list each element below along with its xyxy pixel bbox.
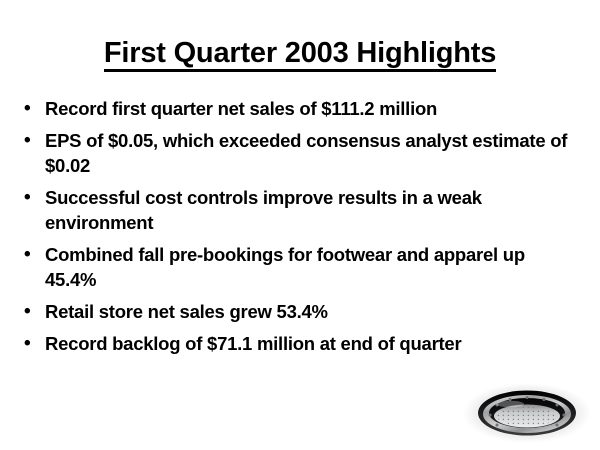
oval-metallic-emblem-icon — [462, 382, 592, 444]
list-item: • Record backlog of $71.1 million at end… — [18, 331, 578, 356]
presentation-slide: First Quarter 2003 Highlights • Record f… — [0, 0, 600, 450]
bullet-point-icon: • — [18, 128, 45, 153]
list-item: • Successful cost controls improve resul… — [18, 185, 578, 235]
bullet-point-icon: • — [18, 96, 45, 121]
page-title: First Quarter 2003 Highlights — [104, 38, 496, 72]
list-item: • EPS of $0.05, which exceeded consensus… — [18, 128, 578, 178]
list-item: • Retail store net sales grew 53.4% — [18, 299, 578, 324]
list-item-text: Record first quarter net sales of $111.2… — [45, 96, 573, 121]
bullet-point-icon: • — [18, 185, 45, 210]
list-item: • Record first quarter net sales of $111… — [18, 96, 578, 121]
title-block: First Quarter 2003 Highlights — [0, 38, 600, 72]
bullet-point-icon: • — [18, 299, 45, 324]
list-item-text: Successful cost controls improve results… — [45, 185, 573, 235]
list-item-text: Combined fall pre-bookings for footwear … — [45, 242, 573, 292]
list-item-text: EPS of $0.05, which exceeded consensus a… — [45, 128, 573, 178]
bullet-list: • Record first quarter net sales of $111… — [18, 96, 578, 363]
list-item-text: Record backlog of $71.1 million at end o… — [45, 331, 573, 356]
list-item-text: Retail store net sales grew 53.4% — [45, 299, 573, 324]
list-item: • Combined fall pre-bookings for footwea… — [18, 242, 578, 292]
bullet-point-icon: • — [18, 242, 45, 267]
bullet-point-icon: • — [18, 331, 45, 356]
